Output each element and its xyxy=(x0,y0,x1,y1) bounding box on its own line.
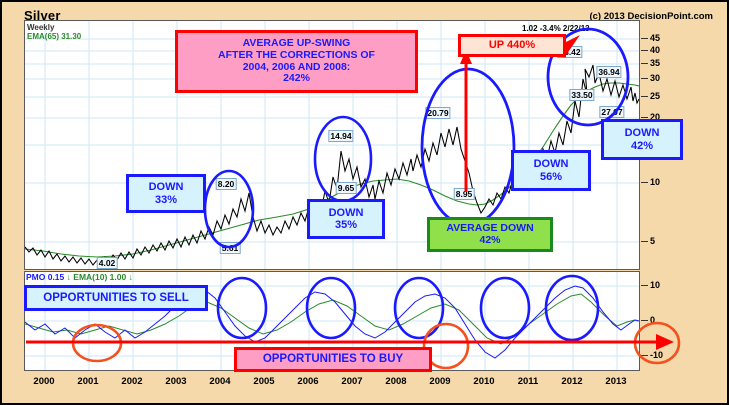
annotation-up-440[interactable]: UP 440% xyxy=(458,34,566,57)
pmo-sell-circle-2006 xyxy=(307,278,355,338)
circle-2004-correction xyxy=(205,171,253,247)
chart-window: Silver (c) 2013 DecisionPoint.com xyxy=(0,0,729,405)
pmo-sell-circle-2004 xyxy=(218,278,266,338)
annotation-opportunities-to-buy[interactable]: OPPORTUNITIES TO BUY xyxy=(234,347,432,372)
annotation-average-down-42[interactable]: AVERAGE DOWN 42% xyxy=(427,217,553,252)
annotation-down-42[interactable]: DOWN 42% xyxy=(601,119,683,160)
annotation-average-upswing[interactable]: AVERAGE UP-SWING AFTER THE CORRECTIONS O… xyxy=(175,30,418,93)
up-440-arrow xyxy=(460,50,472,192)
pmo-sell-circle-2011 xyxy=(546,276,598,340)
pmo-sell-circle-2010 xyxy=(481,278,529,338)
annotation-opportunities-to-sell[interactable]: OPPORTUNITIES TO SELL xyxy=(24,285,208,311)
annotation-down-56[interactable]: DOWN 56% xyxy=(511,150,591,191)
pmo-sell-circle-2008 xyxy=(395,278,443,338)
annotation-down-35[interactable]: DOWN 35% xyxy=(307,199,385,239)
circle-2008-correction xyxy=(422,69,514,225)
circle-2006-correction xyxy=(315,117,371,201)
annotation-down-33[interactable]: DOWN 33% xyxy=(126,174,206,213)
